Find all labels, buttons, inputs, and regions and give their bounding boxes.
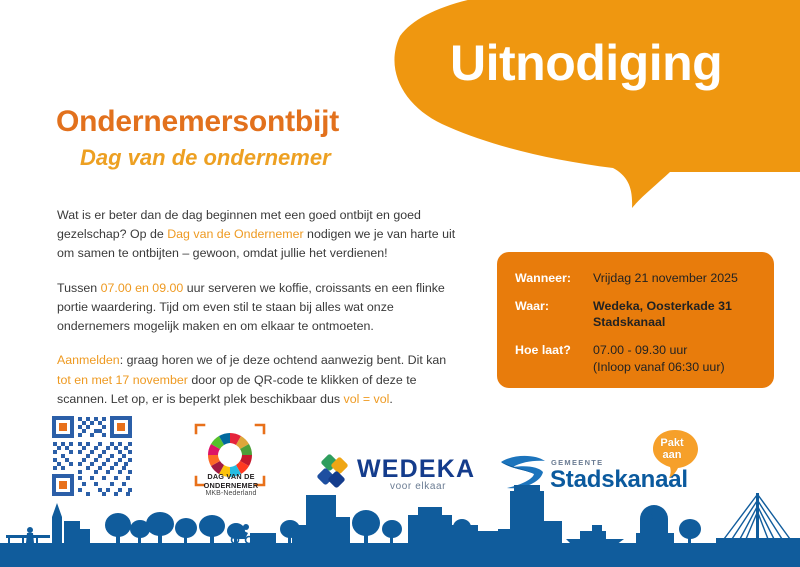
page-title: Ondernemersontbijt [56, 105, 339, 139]
paragraph-timing: Tussen 07.00 en 09.00 uur serveren we ko… [57, 279, 457, 337]
event-details-rows: Wanneer: Vrijdag 21 november 2025 Waar: … [515, 270, 762, 376]
value-hoelaat-line1: 07.00 - 09.30 uur [593, 342, 725, 359]
p1-highlight: Dag van de Ondernemer [167, 227, 303, 241]
value-waar-group: Wedeka, Oosterkade 31 Stadskanaal [593, 298, 732, 331]
label-waar: Waar: [515, 298, 593, 331]
p3-highlight-volisvol: vol = vol [344, 392, 390, 406]
paragraph-intro: Wat is er beter dan de dag beginnen met … [57, 206, 457, 264]
label-hoelaat: Hoe laat? [515, 342, 593, 375]
value-hoelaat-line2: (Inloop vanaf 06:30 uur) [593, 359, 725, 376]
p2-highlight: 07.00 en 09.00 [101, 281, 184, 295]
header-speech-bubble: Uitnodiging [370, 0, 800, 215]
value-hoelaat-group: 07.00 - 09.30 uur (Inloop vanaf 06:30 uu… [593, 342, 725, 375]
value-waar-line1: Wedeka, Oosterkade 31 [593, 298, 732, 315]
speech-bubble-shape [370, 0, 800, 215]
detail-row-time: Hoe laat? 07.00 - 09.30 uur (Inloop vana… [515, 342, 762, 375]
value-waar-line2: Stadskanaal [593, 314, 732, 331]
invitation-flyer: Uitnodiging Ondernemersontbijt Dag van d… [0, 0, 800, 567]
p3-text-a: : graag horen we of je deze ochtend aanw… [120, 353, 447, 367]
invitation-badge-title: Uitnodiging [450, 38, 800, 88]
pakt-aan-text: Pakt aan [648, 438, 696, 461]
page-subtitle: Dag van de ondernemer [80, 145, 331, 171]
value-wanneer-group: Vrijdag 21 november 2025 [593, 270, 738, 287]
detail-row-when: Wanneer: Vrijdag 21 november 2025 [515, 270, 762, 287]
paragraph-signup: Aanmelden: graag horen we of je deze och… [57, 351, 457, 409]
pakt-line2: aan [648, 450, 696, 462]
label-wanneer: Wanneer: [515, 270, 593, 287]
p2-text-a: Tussen [57, 281, 101, 295]
detail-row-where: Waar: Wedeka, Oosterkade 31 Stadskanaal [515, 298, 762, 331]
value-wanneer: Vrijdag 21 november 2025 [593, 270, 738, 287]
p3-text-c: . [389, 392, 392, 406]
body-copy: Wat is er beter dan de dag beginnen met … [57, 206, 457, 424]
p3-highlight-aanmelden: Aanmelden [57, 353, 120, 367]
p3-highlight-deadline: tot en met 17 november [57, 373, 188, 387]
event-details-box: Wanneer: Vrijdag 21 november 2025 Waar: … [497, 252, 774, 388]
pakt-line1: Pakt [648, 438, 696, 450]
city-skyline-illustration [0, 477, 800, 567]
